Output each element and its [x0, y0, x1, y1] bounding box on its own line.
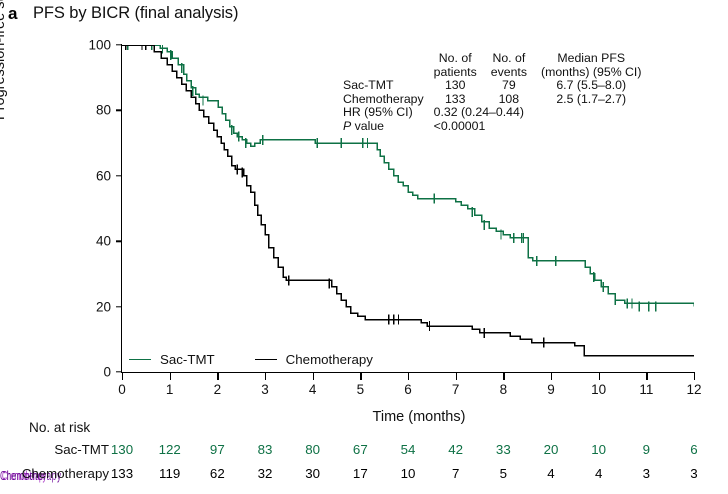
legend-item-chemotherapy[interactable]: Chemotherapy	[255, 352, 373, 367]
x-tick-label: 9	[547, 382, 555, 397]
risk-value: 67	[353, 442, 368, 457]
panel-label: a	[8, 4, 17, 24]
x-tick-mark	[694, 373, 695, 380]
risk-value: 119	[159, 466, 180, 481]
stats-row-sac-tmt: Sac-TMT 130 79 6.7 (5.5–8.0)	[343, 79, 641, 93]
risk-value: 54	[401, 442, 416, 457]
legend-label-sac-tmt: Sac-TMT	[160, 352, 215, 367]
risk-value: 33	[496, 442, 511, 457]
risk-value: 97	[210, 442, 225, 457]
legend-swatch-sac-tmt	[129, 359, 151, 361]
x-tick-label: 6	[404, 382, 412, 397]
stats-header-events-l1: No. of	[491, 52, 541, 66]
stats-header-row-2: patients events (months) (95% CI)	[343, 66, 641, 80]
x-tick-label: 4	[309, 382, 317, 397]
stats-header-group-blank	[343, 66, 434, 80]
stats-row-sac-tmt-median: 6.7 (5.5–8.0)	[541, 79, 641, 93]
statistics-table: No. of No. of Median PFS patients events…	[343, 52, 641, 134]
risk-value: 133	[111, 466, 133, 481]
statistics-summary: No. of No. of Median PFS patients events…	[343, 52, 641, 134]
stats-row-chemotherapy-label: Chemotherapy	[343, 93, 434, 107]
y-tick-label: 20	[0, 299, 111, 314]
stats-row-pvalue: P value <0.00001	[343, 120, 641, 134]
x-axis-ticks: 0123456789101112	[0, 373, 728, 403]
risk-value: 4	[595, 466, 602, 481]
legend-swatch-chemotherapy	[255, 359, 277, 361]
x-tick-mark	[217, 373, 218, 380]
risk-table-row: Sac-TMT13012297838067544233201096	[0, 442, 728, 462]
stats-hr-value: 0.32 (0.24–0.44)	[434, 106, 642, 120]
risk-value: 4	[547, 466, 554, 481]
stats-row-sac-tmt-events: 79	[491, 79, 541, 93]
x-tick-mark	[456, 373, 457, 380]
x-tick-label: 7	[452, 382, 460, 397]
page-title: PFS by BICR (final analysis)	[33, 4, 238, 23]
risk-value: 6	[690, 442, 697, 457]
risk-row-label: Sac-TMT	[0, 442, 109, 457]
stats-header-patients-l2: patients	[434, 66, 491, 80]
stats-header-group	[343, 52, 434, 66]
risk-value: 80	[305, 442, 320, 457]
x-tick-mark	[360, 373, 361, 380]
risk-value: 9	[643, 442, 650, 457]
x-tick-mark	[599, 373, 600, 380]
y-tick-label: 80	[0, 103, 111, 118]
risk-value: 10	[591, 442, 606, 457]
risk-value: 3	[690, 466, 697, 481]
stats-header-median-l1: Median PFS	[541, 52, 641, 66]
y-tick-label: 100	[0, 38, 111, 53]
y-tick-label: 40	[0, 234, 111, 249]
risk-table-row: Chemotherapy1331196232301710754433	[0, 466, 728, 486]
stats-row-chemotherapy-patients: 133	[434, 93, 491, 107]
legend-item-sac-tmt[interactable]: Sac-TMT	[129, 352, 215, 367]
x-tick-label: 10	[591, 382, 606, 397]
stats-row-chemotherapy-events: 108	[491, 93, 541, 107]
x-tick-label: 5	[357, 382, 365, 397]
risk-value: 62	[210, 466, 225, 481]
y-tick-label: 60	[0, 168, 111, 183]
risk-value: 122	[159, 442, 181, 457]
x-tick-label: 11	[639, 382, 653, 397]
x-tick-mark	[122, 373, 123, 380]
stats-hr-label: HR (95% CI)	[343, 106, 434, 120]
x-axis-title-text: Time (months)	[373, 409, 466, 425]
x-axis-title: Time (months)	[0, 409, 728, 425]
risk-value: 7	[452, 466, 459, 481]
x-tick-mark	[503, 373, 504, 380]
stats-row-chemotherapy-median: 2.5 (1.7–2.7)	[541, 93, 641, 107]
x-tick-mark	[551, 373, 552, 380]
risk-value: 10	[401, 466, 416, 481]
stats-row-chemotherapy: Chemotherapy 133 108 2.5 (1.7–2.7)	[343, 93, 641, 107]
risk-value: 130	[111, 442, 133, 457]
x-tick-mark	[265, 373, 266, 380]
stats-row-sac-tmt-patients: 130	[434, 79, 491, 93]
x-tick-label: 8	[500, 382, 508, 397]
risk-value: 3	[643, 466, 650, 481]
x-tick-mark	[408, 373, 409, 380]
risk-value: 83	[258, 442, 273, 457]
x-tick-label: 3	[261, 382, 269, 397]
x-tick-label: 2	[214, 382, 222, 397]
stats-header-row-1: No. of No. of Median PFS	[343, 52, 641, 66]
stats-row-hr: HR (95% CI) 0.32 (0.24–0.44)	[343, 106, 641, 120]
x-tick-mark	[313, 373, 314, 380]
overlap-artifact-text-2: Chemotherapy	[0, 468, 62, 483]
legend-label-chemotherapy: Chemotherapy	[286, 352, 373, 367]
risk-value: 32	[258, 466, 273, 481]
stats-header-median-l2: (months) (95% CI)	[541, 66, 641, 80]
chart-legend: Sac-TMT Chemotherapy	[129, 352, 413, 367]
stats-header-patients-l1: No. of	[434, 52, 491, 66]
stats-pvalue-value: <0.00001	[434, 120, 642, 134]
risk-table-title: No. at risk	[29, 420, 90, 435]
stats-row-sac-tmt-label: Sac-TMT	[343, 79, 434, 93]
risk-value: 30	[305, 466, 320, 481]
risk-value: 20	[544, 442, 559, 457]
risk-value: 5	[500, 466, 507, 481]
x-tick-label: 1	[166, 382, 174, 397]
x-tick-label: 12	[686, 382, 701, 397]
x-tick-mark	[170, 373, 171, 380]
risk-value: 42	[448, 442, 463, 457]
risk-value: 17	[353, 466, 368, 481]
stats-pvalue-label: P value	[343, 120, 434, 134]
x-tick-mark	[646, 373, 647, 380]
x-tick-label: 0	[118, 382, 126, 397]
stats-header-events-l2: events	[491, 66, 541, 80]
